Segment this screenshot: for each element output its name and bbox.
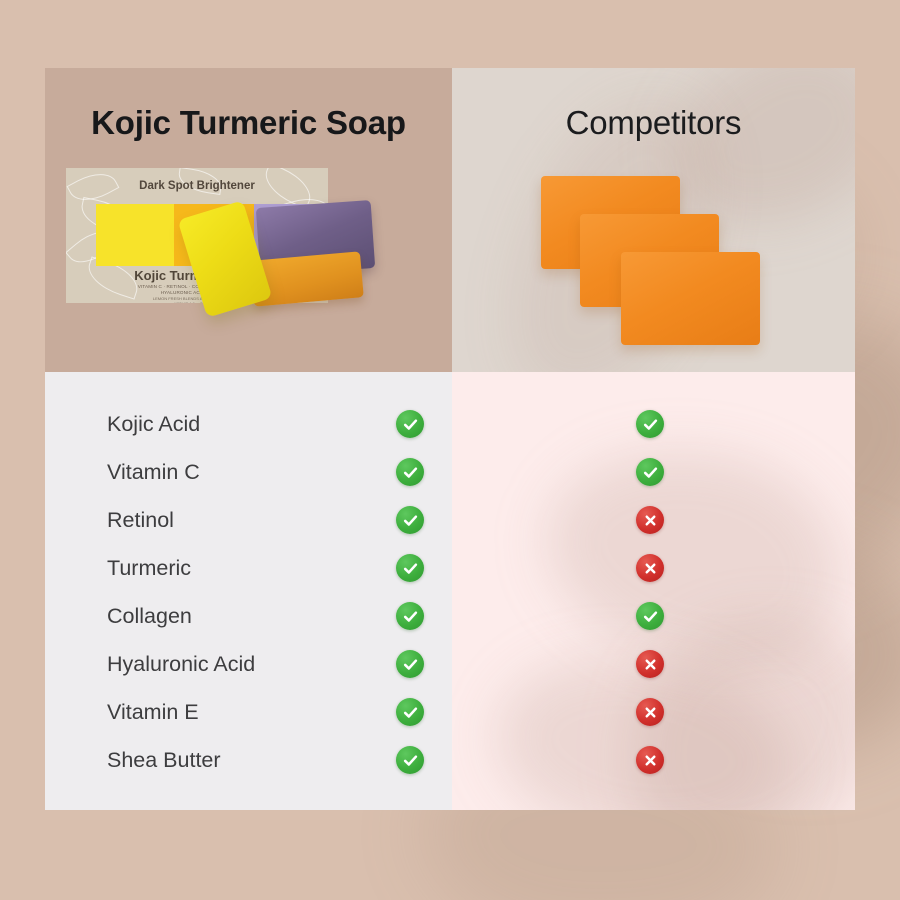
product-mark-cell xyxy=(390,400,430,448)
competitor-photo xyxy=(520,176,810,356)
cross-circle-icon xyxy=(636,554,664,582)
package-tagline: Dark Spot Brightener xyxy=(66,180,328,192)
package-window-soap-yellow xyxy=(96,204,174,266)
product-column-title: Kojic Turmeric Soap xyxy=(45,68,452,142)
competitor-mark-cell xyxy=(630,496,670,544)
cross-circle-icon xyxy=(636,698,664,726)
product-mark-cell xyxy=(390,640,430,688)
competitors-mark-list xyxy=(630,400,670,784)
check-circle-icon xyxy=(396,602,424,630)
feature-label: Turmeric xyxy=(45,556,191,581)
check-circle-icon xyxy=(636,410,664,438)
check-circle-icon xyxy=(396,410,424,438)
product-photo: Dark Spot Brightener Kojic Turmeric Soap… xyxy=(66,168,431,338)
product-feature-column: Kojic AcidVitamin CRetinolTurmericCollag… xyxy=(45,372,452,810)
competitor-soap-bar xyxy=(621,252,760,345)
check-circle-icon xyxy=(396,698,424,726)
competitors-column-title: Competitors xyxy=(452,68,855,142)
cross-circle-icon xyxy=(636,506,664,534)
feature-label: Vitamin C xyxy=(45,460,200,485)
comparison-infographic: Kojic Turmeric Soap Dark Spot Brightener xyxy=(0,0,900,900)
check-circle-icon xyxy=(396,506,424,534)
competitor-mark-cell xyxy=(630,736,670,784)
feature-label: Shea Butter xyxy=(45,748,221,773)
competitor-mark-cell xyxy=(630,400,670,448)
product-mark-cell xyxy=(390,592,430,640)
card-leaf-shadow xyxy=(526,423,855,691)
feature-label: Collagen xyxy=(45,604,192,629)
check-circle-icon xyxy=(396,458,424,486)
feature-label: Hyaluronic Acid xyxy=(45,652,255,677)
cross-circle-icon xyxy=(636,746,664,774)
check-circle-icon xyxy=(396,650,424,678)
competitor-mark-cell xyxy=(630,640,670,688)
check-circle-icon xyxy=(396,554,424,582)
product-mark-cell xyxy=(390,688,430,736)
feature-label: Kojic Acid xyxy=(45,412,200,437)
competitor-mark-cell xyxy=(630,688,670,736)
product-mark-list xyxy=(390,400,430,784)
comparison-card: Kojic Turmeric Soap Dark Spot Brightener xyxy=(45,68,855,810)
cross-circle-icon xyxy=(636,650,664,678)
product-mark-cell xyxy=(390,736,430,784)
feature-label: Vitamin E xyxy=(45,700,199,725)
competitor-mark-cell xyxy=(630,448,670,496)
product-header-panel: Kojic Turmeric Soap Dark Spot Brightener xyxy=(45,68,452,372)
competitor-mark-cell xyxy=(630,592,670,640)
feature-label: Retinol xyxy=(45,508,174,533)
check-circle-icon xyxy=(396,746,424,774)
check-circle-icon xyxy=(636,458,664,486)
check-circle-icon xyxy=(636,602,664,630)
competitor-mark-cell xyxy=(630,544,670,592)
competitors-header-panel: Competitors xyxy=(452,68,855,372)
competitors-feature-column xyxy=(452,372,855,810)
product-mark-cell xyxy=(390,544,430,592)
product-mark-cell xyxy=(390,496,430,544)
product-mark-cell xyxy=(390,448,430,496)
